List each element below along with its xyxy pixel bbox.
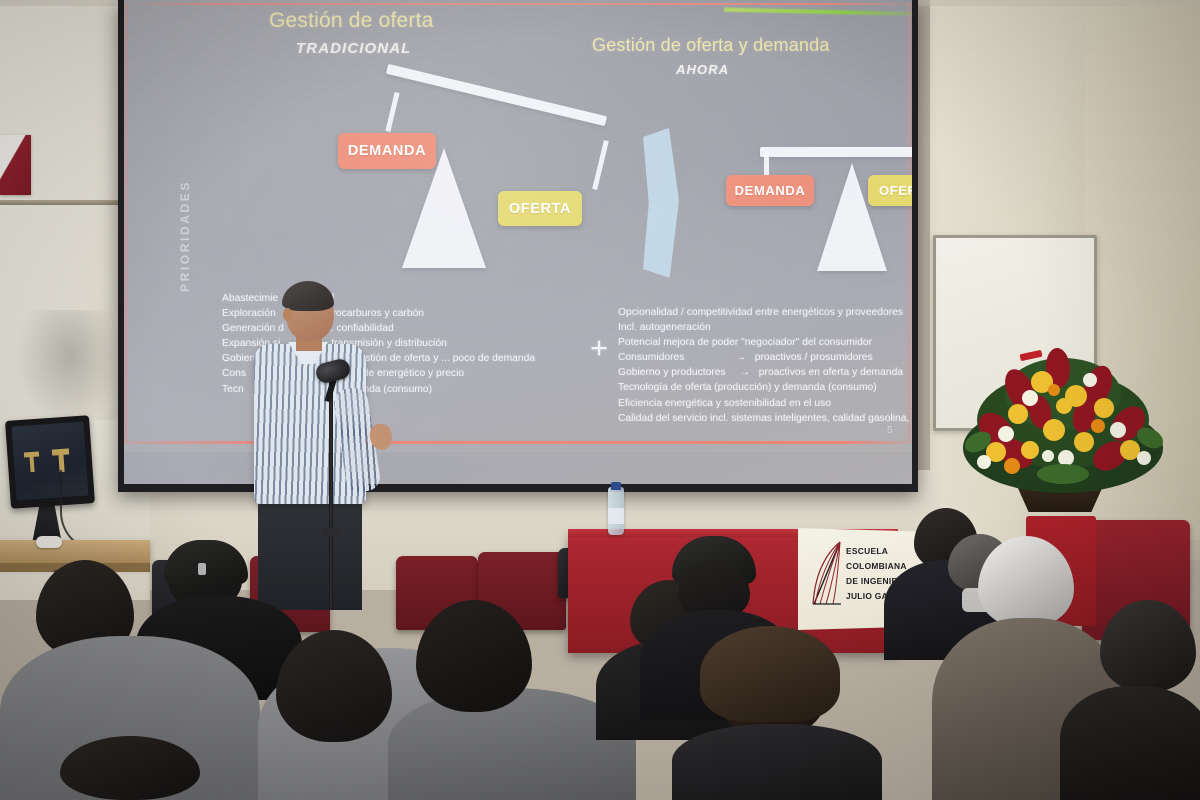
- bullet-item-right: Calidad del servicio incl. sistemas inte…: [618, 411, 912, 426]
- transition-arrow-icon: [643, 128, 679, 278]
- microphone-stand: [329, 380, 333, 610]
- balance-beam-left: [386, 64, 607, 126]
- banner-line-2: COLOMBIANA: [846, 561, 907, 571]
- wall-poster: [0, 135, 31, 195]
- bullet-item-right: Incl. autogeneración: [618, 320, 912, 335]
- bullet-item-right: Gobierno y productores → proactivos en o…: [618, 365, 912, 380]
- audience-shoulders: [672, 724, 882, 800]
- badge-oferta-right: OFERTA: [868, 175, 912, 206]
- projected-slide: Gestión de oferta TRADICIONAL Gestión de…: [124, 0, 912, 452]
- bullet-item-right: Potencial mejora de poder "negociador" d…: [618, 335, 912, 350]
- wall-shelf: [0, 200, 118, 205]
- photo-canvas: Gestión de oferta TRADICIONAL Gestión de…: [0, 0, 1200, 800]
- plus-icon: +: [590, 332, 608, 363]
- banner-line-1: ESCUELA: [846, 546, 888, 556]
- bullet-item-right: Consumidores → proactivos / prosumidores: [618, 350, 912, 365]
- water-bottle-label: [608, 508, 624, 524]
- bullet-list-right: Opcionalidad / competitividad entre ener…: [618, 305, 912, 426]
- bullet-item-right: Eficiencia energética y sostenibilidad e…: [618, 396, 912, 411]
- slide-title-right: Gestión de oferta y demanda: [592, 35, 830, 56]
- slide-title-left: Gestión de oferta: [269, 9, 434, 33]
- slide-border-left: [125, 3, 127, 443]
- projection-screen: Gestión de oferta TRADICIONAL Gestión de…: [124, 0, 912, 484]
- slide-page-number: 5: [887, 425, 893, 436]
- microphone-clip: [322, 528, 340, 536]
- presenter-ear: [283, 308, 292, 321]
- badge-demanda-right: DEMANDA: [726, 175, 814, 206]
- slide-border-bottom: [124, 441, 912, 444]
- green-accent-line: [724, 8, 912, 17]
- audience-shoulders: [1060, 686, 1200, 800]
- bullet-item-right: Opcionalidad / competitividad entre ener…: [618, 305, 912, 320]
- wall-shadow: [18, 310, 123, 425]
- slide-subtitle-left: TRADICIONAL: [296, 40, 411, 57]
- water-bottle-cap: [611, 482, 621, 490]
- balance-hanger-left-demand: [385, 92, 399, 132]
- badge-oferta-left: OFERTA: [498, 191, 582, 226]
- mouse-icon: [36, 536, 62, 548]
- balance-beam-right: [760, 147, 912, 157]
- badge-demanda-left: DEMANDA: [338, 133, 436, 169]
- nba-logo-icon: [198, 563, 206, 575]
- audience-beanie: [700, 626, 840, 722]
- audience-head: [276, 630, 392, 742]
- eci-logo-icon: [810, 540, 844, 610]
- floral-arrangement: [958, 338, 1168, 498]
- presenter-trousers: [258, 498, 362, 610]
- slide-border-top: [124, 3, 912, 5]
- prioridades-label: PRIORIDADES: [178, 172, 194, 292]
- bullet-item-right: Tecnología de oferta (producción) y dema…: [618, 380, 912, 395]
- slide-subtitle-right: AHORA: [676, 62, 729, 77]
- balance-hanger-left-supply: [592, 140, 609, 190]
